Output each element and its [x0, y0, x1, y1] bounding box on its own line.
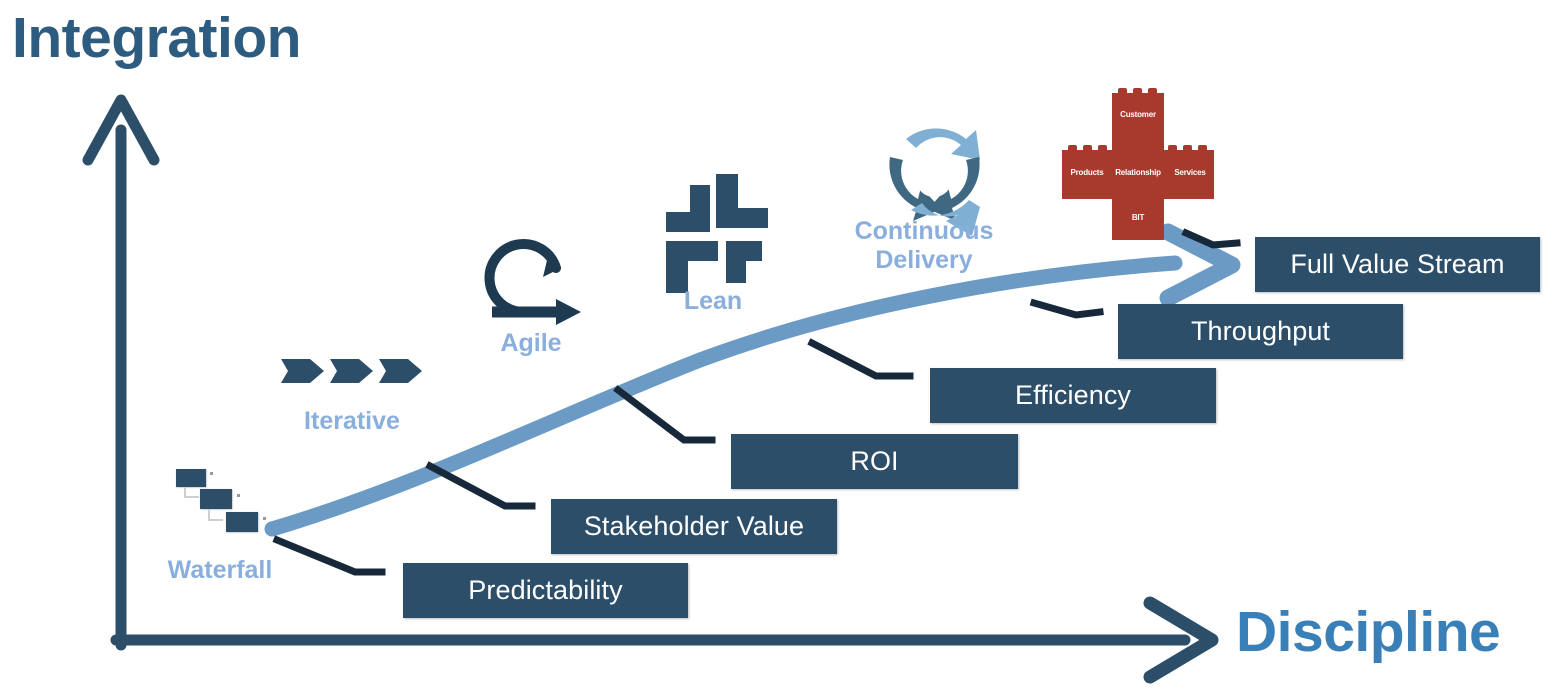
- lego-label-relationship: Relationship: [1108, 168, 1168, 177]
- stage-label-iterative: Iterative: [272, 407, 432, 436]
- outcome-box-predictability[interactable]: Predictability: [403, 563, 688, 618]
- x-axis-title: Discipline: [1236, 604, 1500, 661]
- outcome-box-roi[interactable]: ROI: [731, 434, 1018, 489]
- stage-label-waterfall: Waterfall: [140, 556, 300, 585]
- outcome-box-throughput[interactable]: Throughput: [1118, 304, 1403, 359]
- leader-line-throughput: [1034, 303, 1100, 315]
- waterfall-connector-1: [184, 487, 199, 498]
- leader-line-full-value-stream: [1186, 233, 1237, 245]
- stage-label-continuous-delivery-line2: Delivery: [844, 246, 1004, 275]
- lego-label-customer: Customer: [1112, 110, 1164, 119]
- waterfall-dot-1: [210, 472, 213, 475]
- outcome-box-efficiency[interactable]: Efficiency: [930, 368, 1216, 423]
- leader-line-roi: [618, 390, 712, 440]
- stage-label-continuous-delivery-line1: Continuous: [844, 217, 1004, 246]
- waterfall-block-2: [200, 489, 232, 509]
- waterfall-dot-2: [237, 494, 240, 497]
- outcome-box-full-value-stream[interactable]: Full Value Stream: [1255, 237, 1540, 292]
- stage-label-continuous-delivery: Continuous Delivery: [844, 217, 1004, 274]
- lego-label-services: Services: [1166, 168, 1214, 177]
- leader-line-stakeholder-value: [430, 466, 532, 506]
- x-axis-arrowhead: [1150, 603, 1212, 677]
- iteration-loop-arrow-icon: [490, 244, 581, 325]
- stage-label-agile: Agile: [456, 329, 606, 358]
- maturity-curve-arrowhead: [1168, 232, 1232, 298]
- waterfall-dot-3: [263, 517, 266, 520]
- waterfall-connector-2: [208, 509, 223, 521]
- triple-chevron-icon: [281, 359, 422, 383]
- outcome-box-stakeholder-value[interactable]: Stakeholder Value: [551, 499, 837, 554]
- stage-label-lean: Lean: [638, 287, 788, 316]
- waterfall-block-1: [176, 469, 206, 487]
- waterfall-block-3: [226, 512, 258, 532]
- maturity-curve-diagram: Customer Products Relationship Services …: [0, 0, 1553, 699]
- four-l-blocks-pinwheel-icon: [666, 174, 768, 293]
- y-axis-arrowhead: [88, 100, 154, 160]
- y-axis-title: Integration: [12, 10, 301, 67]
- lego-label-bit: BIT: [1112, 213, 1164, 222]
- leader-line-efficiency: [812, 343, 910, 376]
- lego-label-products: Products: [1062, 168, 1112, 177]
